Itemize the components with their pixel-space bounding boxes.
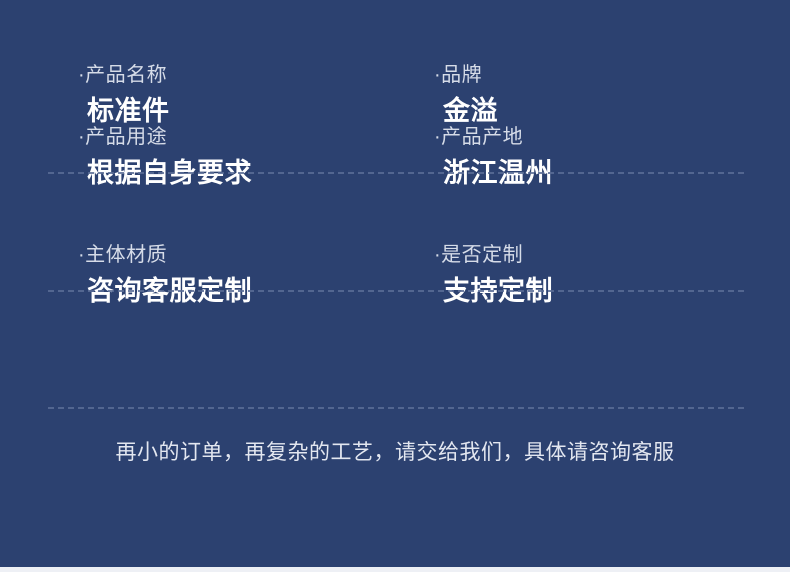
spec-label: ·产品名称 <box>78 62 434 89</box>
spec-cell-origin: ·产品产地 浙江温州 <box>434 124 790 228</box>
row-divider <box>48 172 744 174</box>
spec-label: ·品牌 <box>434 62 790 89</box>
spec-row: ·产品用途 根据自身要求 ·产品产地 浙江温州 <box>0 110 790 228</box>
product-spec-panel: ·产品名称 标准件 ·品牌 金溢 ·产品用途 根据自身要求 ·产品产地 浙江温州… <box>0 0 790 567</box>
row-divider <box>48 407 744 409</box>
spec-cell-product-use: ·产品用途 根据自身要求 <box>78 124 434 228</box>
spec-row: ·主体材质 咨询客服定制 ·是否定制 支持定制 <box>0 228 790 345</box>
spec-row: ·产品名称 标准件 ·品牌 金溢 <box>0 0 790 110</box>
spec-cell-brand: ·品牌 金溢 <box>434 62 790 110</box>
spec-cell-customizable: ·是否定制 支持定制 <box>434 242 790 345</box>
spec-label: ·主体材质 <box>78 242 434 269</box>
spec-cell-material: ·主体材质 咨询客服定制 <box>78 242 434 345</box>
footer-note: 再小的订单，再复杂的工艺，请交给我们，具体请咨询客服 <box>0 438 790 468</box>
spec-label: ·产品产地 <box>434 124 790 151</box>
spec-label: ·是否定制 <box>434 242 790 269</box>
row-divider <box>48 290 744 292</box>
spec-label: ·产品用途 <box>78 124 434 151</box>
bottom-strip <box>0 567 790 572</box>
spec-cell-product-name: ·产品名称 标准件 <box>78 62 434 110</box>
